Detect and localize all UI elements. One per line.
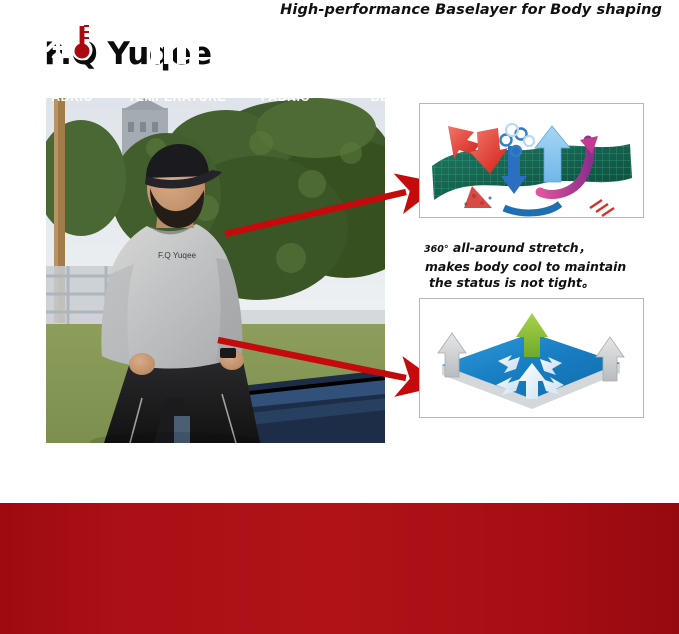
four-way-stretch-icon (582, 11, 640, 67)
airflow-icon (473, 11, 531, 67)
feature-cool-fabric-1: COOL FABRIC (14, 0, 123, 104)
feature-breathable-fabric: BREATHABLE FABRIC (448, 0, 557, 104)
feature-four-way-stretch: 4 WAY STRETCH (557, 0, 666, 104)
svg-text:UV: UV (367, 17, 385, 31)
feature-label: UV BLOCK (371, 73, 417, 104)
feature-label: BREATHABLE FABRIC (458, 73, 547, 104)
svg-text:F.Q Yuqee: F.Q Yuqee (158, 251, 197, 260)
breathable-diagram-artwork (420, 299, 643, 417)
breathable-diagram-panel (419, 298, 644, 418)
water-droplets-icon (256, 11, 314, 67)
feature-cool-fabric-2: COOL FABRIC (231, 0, 340, 104)
feature-label: REDUCING TEMPERATURE (127, 73, 226, 104)
snowflake-thermometer-icon (39, 11, 97, 67)
model-photo: F.Q Yuqee (46, 98, 385, 443)
feature-uv-block: UV UV BLOCK (340, 0, 449, 104)
caption-degrees: 360° (424, 244, 449, 255)
model-photo-artwork: F.Q Yuqee (46, 98, 385, 443)
feature-label: 4 WAY STRETCH (580, 73, 642, 104)
descending-bar-chart-icon (149, 11, 205, 67)
feature-list: COOL FABRIC RED (0, 0, 679, 131)
caption-line-1: 360° all-around stretch， (424, 240, 654, 259)
feature-banner (0, 503, 679, 634)
uv-block-icon: UV (365, 11, 423, 67)
stretch-caption: 360° all-around stretch， makes body cool… (424, 240, 654, 292)
feature-label: COOL FABRIC (44, 73, 93, 104)
product-marketing-page: High-performance Baselayer for Body shap… (0, 0, 679, 634)
caption-line-2: makes body cool to maintain (424, 259, 654, 276)
feature-reducing-temperature: REDUCING TEMPERATURE (123, 0, 232, 104)
feature-label: COOL FABRIC (261, 73, 310, 104)
caption-line-3: the status is not tight。 (424, 275, 654, 292)
